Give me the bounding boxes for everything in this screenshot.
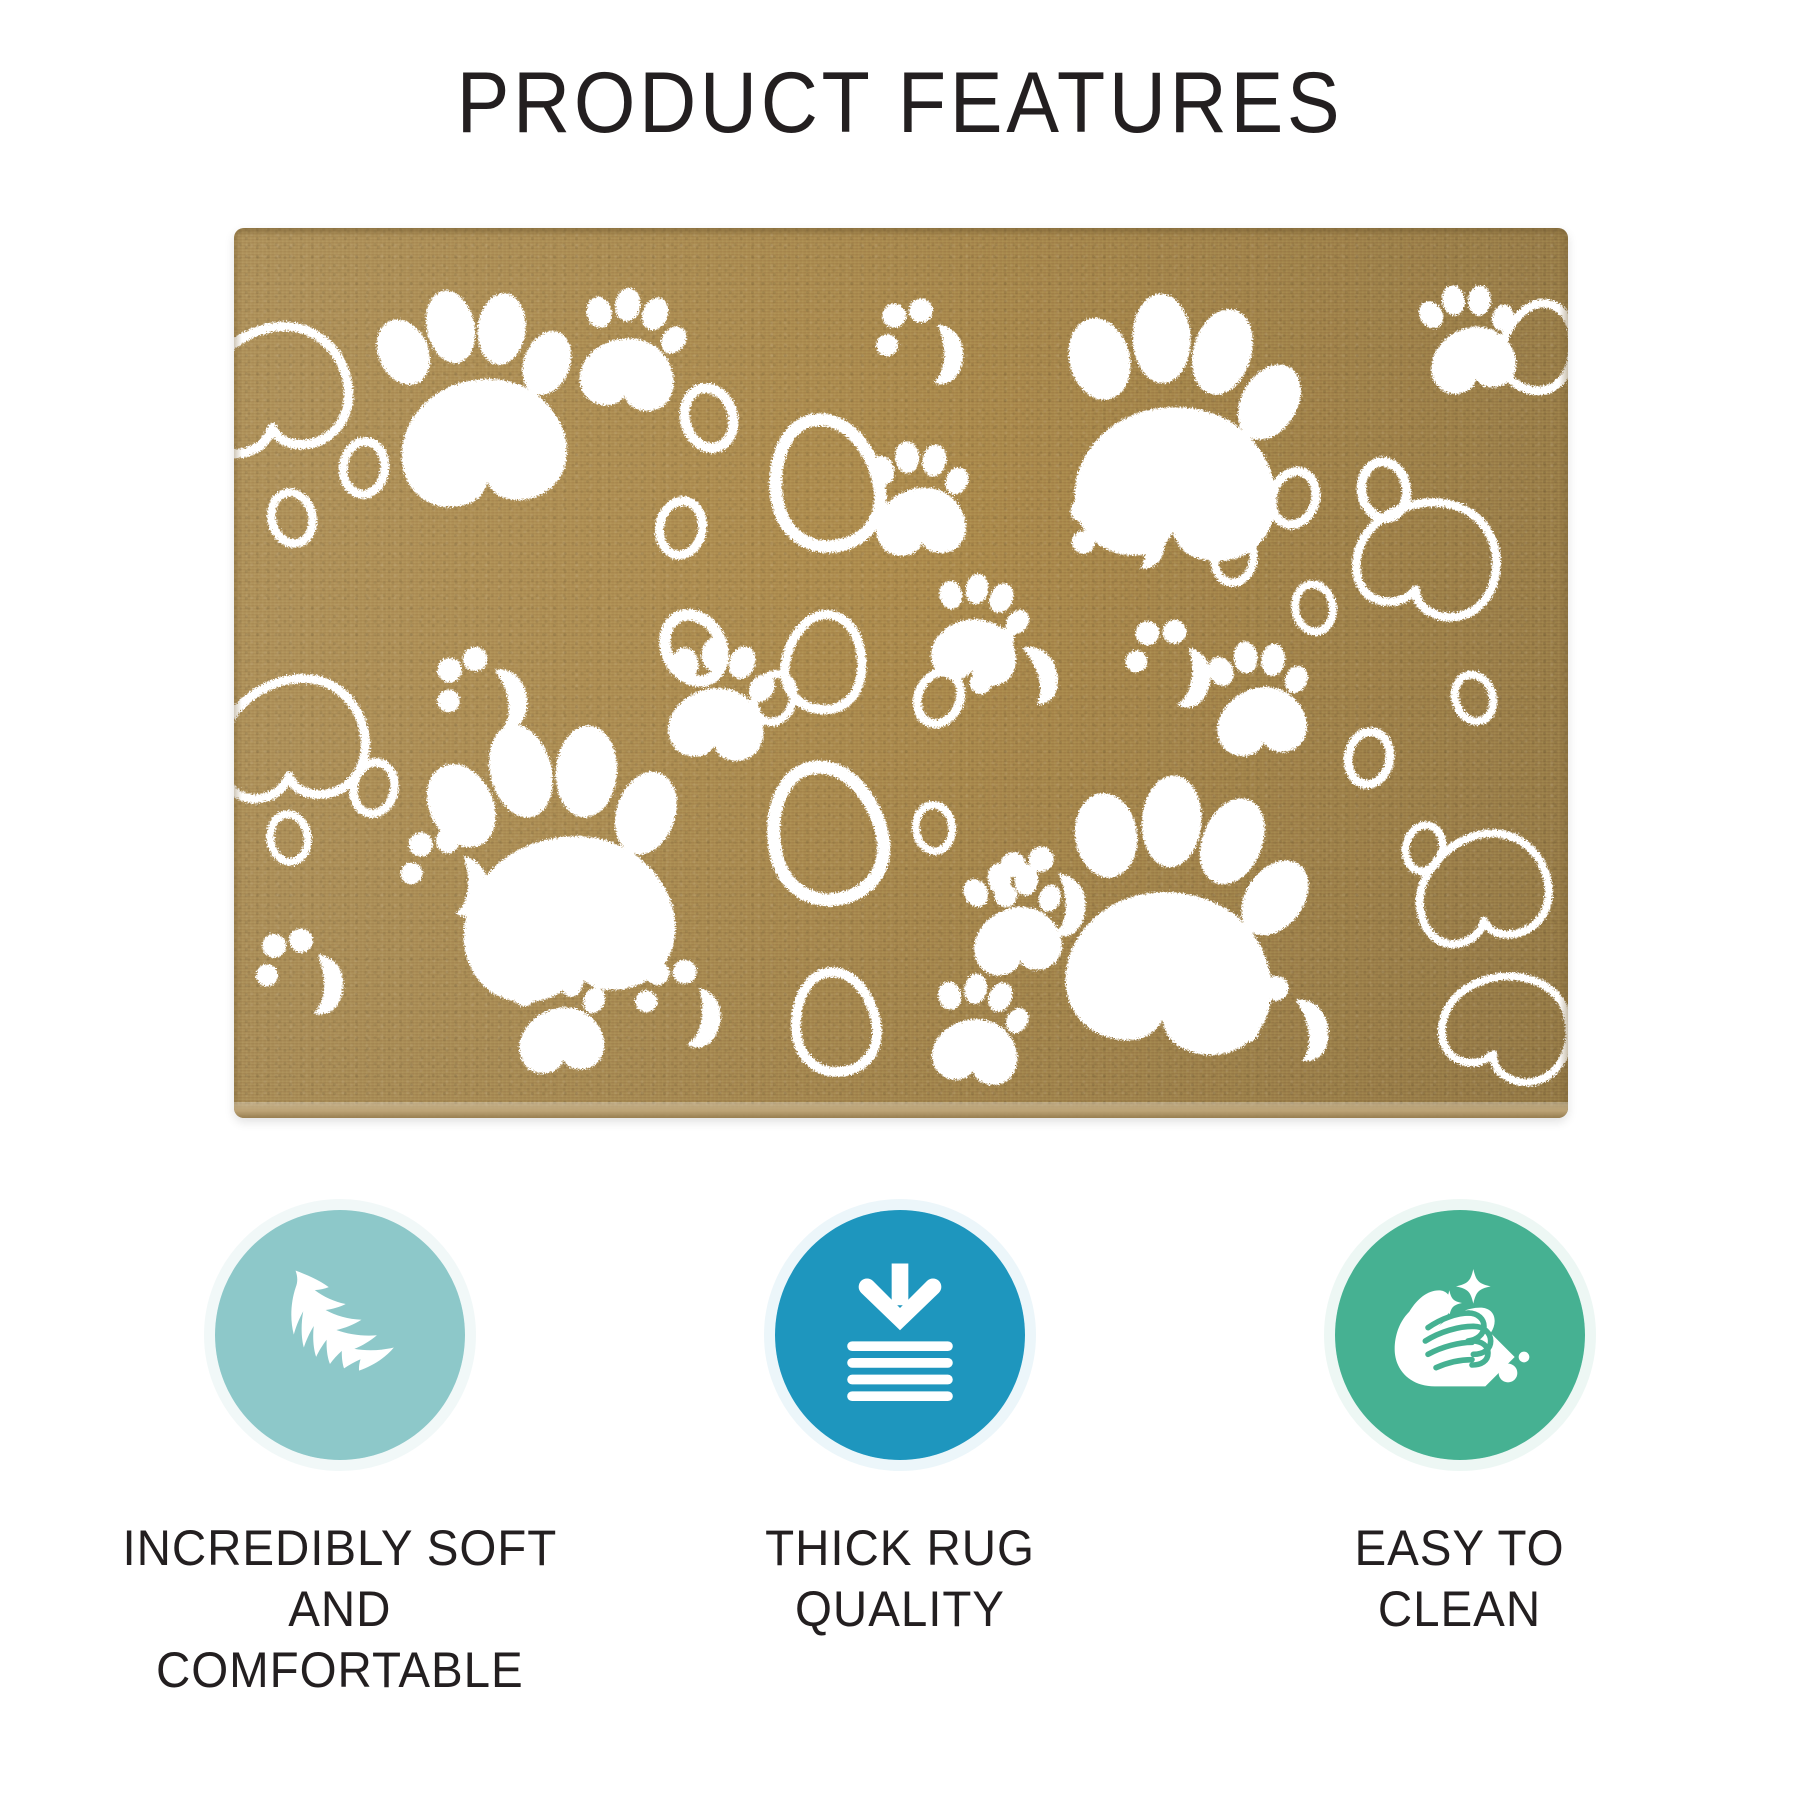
feather-icon — [265, 1258, 415, 1413]
rug-binding-edge — [234, 1102, 1568, 1118]
feature-item-clean: EASY TO CLEAN — [1180, 1210, 1740, 1701]
feature-icon-badge-thick — [775, 1210, 1025, 1460]
paw-print-pattern — [234, 228, 1568, 1118]
feature-list: INCREDIBLY SOFT AND COMFORTABLE THICK RU… — [0, 1210, 1800, 1701]
feature-label-thick: THICK RUG QUALITY — [765, 1518, 1035, 1640]
thickness-arrow-layers-icon — [830, 1258, 970, 1413]
feature-icon-badge-soft — [215, 1210, 465, 1460]
rug-edge-right — [1559, 228, 1568, 1118]
hand-wiping-cloth-sparkle-icon — [1380, 1258, 1540, 1413]
feature-label-clean: EASY TO CLEAN — [1355, 1518, 1565, 1640]
product-image — [234, 228, 1568, 1118]
feature-item-thick: THICK RUG QUALITY — [620, 1210, 1180, 1701]
rug-edge-left — [234, 228, 242, 1118]
rug-surface — [234, 228, 1568, 1118]
feature-label-soft: INCREDIBLY SOFT AND COMFORTABLE — [123, 1518, 558, 1701]
feature-icon-badge-clean — [1335, 1210, 1585, 1460]
feature-item-soft: INCREDIBLY SOFT AND COMFORTABLE — [60, 1210, 620, 1701]
rug-edge-top — [234, 228, 1568, 237]
page-title: PRODUCT FEATURES — [72, 60, 1728, 146]
